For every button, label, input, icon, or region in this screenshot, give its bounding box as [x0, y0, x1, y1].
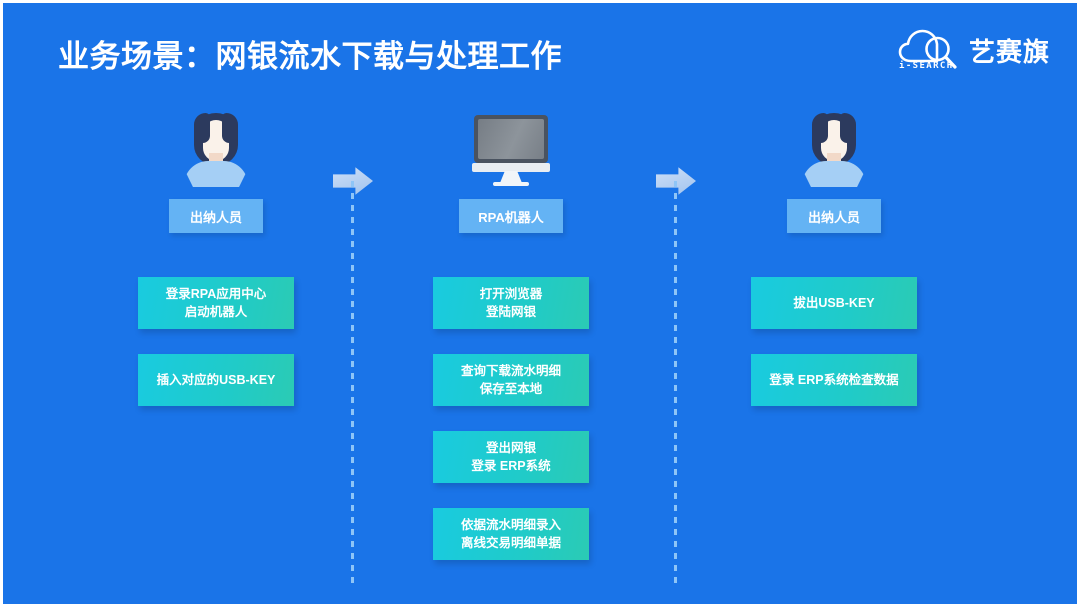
- flow-column-cashier-start: 出纳人员 登录RPA应用中心 启动机器人 插入对应的USB-KEY: [106, 113, 326, 431]
- person-body: [184, 161, 248, 187]
- monitor-base: [493, 182, 529, 186]
- person-icon: [794, 113, 874, 185]
- step-list-cashier-end: 拔出USB-KEY 登录 ERP系统检查数据: [724, 277, 944, 406]
- person-hair-left: [812, 113, 828, 143]
- step-box[interactable]: 拔出USB-KEY: [751, 277, 917, 329]
- step-box[interactable]: 依据流水明细录入 离线交易明细单据: [433, 508, 589, 560]
- step-line: 登录RPA应用中心: [166, 285, 266, 303]
- step-line: 登录 ERP系统检查数据: [769, 371, 898, 389]
- logo-tagline: i-SEARCH: [899, 61, 954, 71]
- actor-label-cashier-start: 出纳人员: [169, 199, 263, 233]
- column-divider: [351, 181, 354, 589]
- step-line: 登出网银: [471, 439, 550, 457]
- column-divider: [674, 181, 677, 589]
- step-list-rpa-robot: 打开浏览器 登陆网银 查询下载流水明细 保存至本地 登出网银 登录 ERP系统 …: [401, 277, 621, 560]
- logo-wordmark: 艺赛旗: [969, 32, 1050, 69]
- step-box[interactable]: 查询下载流水明细 保存至本地: [433, 354, 589, 406]
- step-line: 登陆网银: [480, 303, 543, 321]
- actor-label-cashier-end: 出纳人员: [787, 199, 881, 233]
- step-line: 插入对应的USB-KEY: [157, 371, 276, 389]
- step-box[interactable]: 登录 ERP系统检查数据: [751, 354, 917, 406]
- page-title: 业务场景：网银流水下载与处理工作: [58, 31, 562, 76]
- step-line: 打开浏览器: [480, 285, 543, 303]
- person-body: [802, 161, 866, 187]
- step-line: 离线交易明细单据: [461, 534, 561, 552]
- slide-header: 业务场景：网银流水下载与处理工作 i-SEARCH 艺赛旗: [3, 3, 1080, 95]
- step-box[interactable]: 登出网银 登录 ERP系统: [433, 431, 589, 483]
- monitor-screen: [478, 119, 544, 159]
- person-hair-right: [222, 113, 238, 143]
- monitor-chin: [472, 163, 550, 172]
- monitor-icon: [471, 113, 551, 185]
- step-line: 保存至本地: [461, 380, 561, 398]
- step-line: 查询下载流水明细: [461, 362, 561, 380]
- brand-logo: i-SEARCH 艺赛旗: [897, 25, 1047, 77]
- person-hair-left: [194, 113, 210, 143]
- person-hair-right: [840, 113, 856, 143]
- flow-column-cashier-end: 出纳人员 拔出USB-KEY 登录 ERP系统检查数据: [724, 113, 944, 431]
- step-list-cashier-start: 登录RPA应用中心 启动机器人 插入对应的USB-KEY: [106, 277, 326, 406]
- step-line: 登录 ERP系统: [471, 457, 550, 475]
- step-box[interactable]: 打开浏览器 登陆网银: [433, 277, 589, 329]
- step-box[interactable]: 登录RPA应用中心 启动机器人: [138, 277, 294, 329]
- slide-canvas: 业务场景：网银流水下载与处理工作 i-SEARCH 艺赛旗 出纳人员: [0, 0, 1080, 607]
- person-icon: [176, 113, 256, 185]
- step-line: 拔出USB-KEY: [793, 294, 874, 312]
- actor-label-rpa-robot: RPA机器人: [459, 199, 563, 233]
- step-box[interactable]: 插入对应的USB-KEY: [138, 354, 294, 406]
- step-line: 依据流水明细录入: [461, 516, 561, 534]
- flow-column-rpa-robot: RPA机器人 打开浏览器 登陆网银 查询下载流水明细 保存至本地 登出网银 登录…: [401, 113, 621, 585]
- step-line: 启动机器人: [166, 303, 266, 321]
